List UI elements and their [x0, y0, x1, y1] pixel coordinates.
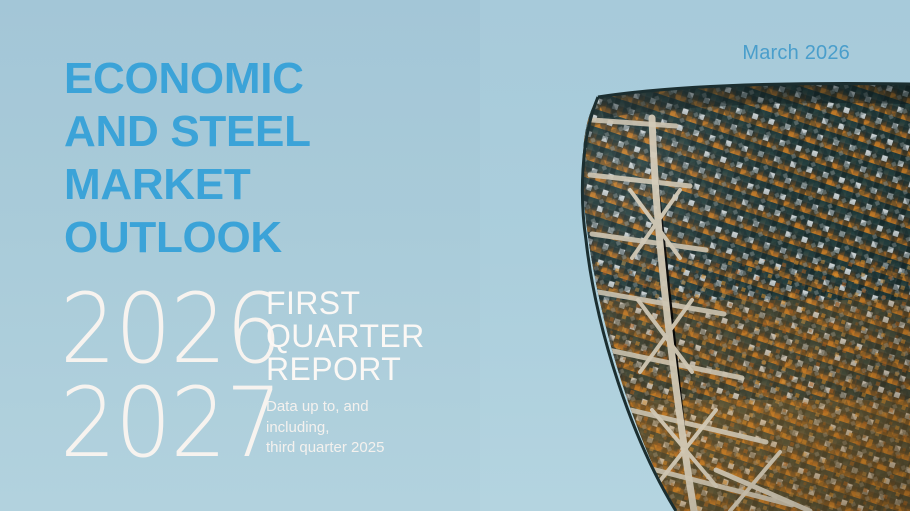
title-line-2: AND STEEL: [64, 105, 464, 158]
steel-lattice-structure-photo: [480, 0, 910, 511]
title-line-3: MARKET: [64, 158, 464, 211]
data-coverage-note: Data up to, and including, third quarter…: [266, 397, 446, 459]
note-line-3: third quarter 2025: [266, 438, 446, 459]
report-subtitle-block: FIRST QUARTER REPORT Data up to, and inc…: [266, 287, 446, 459]
title-line-1: ECONOMIC: [64, 52, 464, 105]
year-line-2: 2027: [60, 376, 281, 470]
report-years: 2026 2027: [60, 282, 300, 470]
cover-page: March 2026 ECONOMIC AND STEEL MARKET OUT…: [0, 0, 910, 511]
report-line-1: FIRST: [266, 287, 446, 320]
page-title: ECONOMIC AND STEEL MARKET OUTLOOK: [64, 52, 464, 264]
report-line-2: QUARTER: [266, 320, 446, 353]
title-line-4: OUTLOOK: [64, 211, 464, 264]
note-line-1: Data up to, and: [266, 397, 446, 418]
note-line-2: including,: [266, 418, 446, 439]
year-line-1: 2026: [60, 282, 281, 376]
report-line-3: REPORT: [266, 353, 446, 386]
